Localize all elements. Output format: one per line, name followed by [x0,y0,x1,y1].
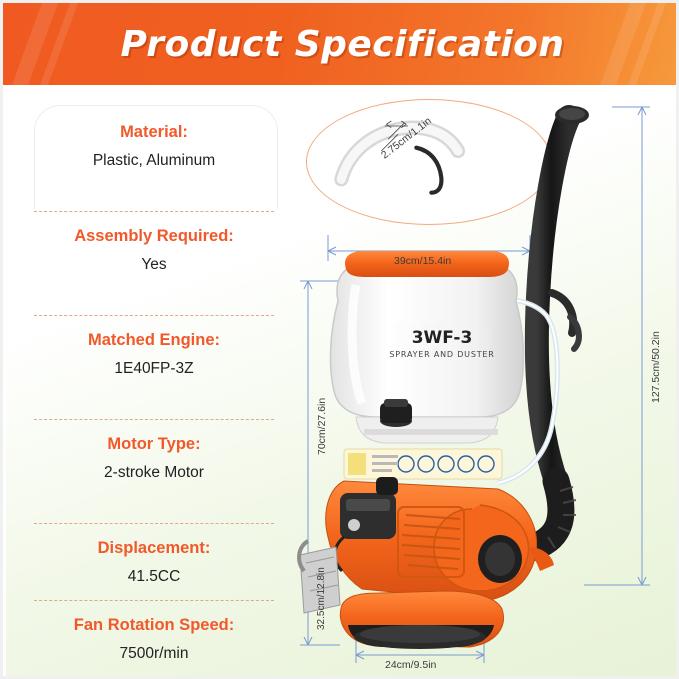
spec-separator [34,211,274,212]
spec-value: 41.5CC [28,566,280,588]
spec-item-fan-rotation-speed: Fan Rotation Speed: 7500r/min [28,614,280,665]
dimension-top-width: 39cm/15.4in [394,255,451,267]
spec-label: Matched Engine: [28,329,280,351]
spec-item-motor-type: Motor Type: 2-stroke Motor [28,433,280,484]
product-specification-page: Product Specification Material: Plastic,… [0,0,679,679]
product-drawing: 3WF-3 SPRAYER AND DUSTER [284,85,679,679]
spec-value: Yes [28,254,280,276]
body-area: Material: Plastic, Aluminum Assembly Req… [6,85,679,679]
spec-value: 2-stroke Motor [28,462,280,484]
spec-separator [34,600,274,601]
dimension-bottom-width: 24cm/9.5in [385,659,436,671]
product-illustration: 2.75cm/1.1in [284,85,679,679]
dimension-left-height: 70cm/27.6in [316,398,328,455]
dimension-right-height: 127.5cm/50.2in [650,331,662,403]
spec-label: Displacement: [28,537,280,559]
spec-separator [34,315,274,316]
spec-item-material: Material: Plastic, Aluminum [28,121,280,172]
page-title: Product Specification [3,3,679,85]
spec-item-assembly-required: Assembly Required: Yes [28,225,280,276]
spec-label: Material: [28,121,280,143]
spec-item-displacement: Displacement: 41.5CC [28,537,280,588]
spec-separator [34,419,274,420]
dimension-left-lower-height: 32.5cm/12.8in [316,567,327,630]
spec-label: Assembly Required: [28,225,280,247]
spec-value: 1E40FP-3Z [28,358,280,380]
spec-item-matched-engine: Matched Engine: 1E40FP-3Z [28,329,280,380]
spec-value: 7500r/min [28,643,280,665]
spec-list: Material: Plastic, Aluminum Assembly Req… [28,103,280,659]
spec-label: Fan Rotation Speed: [28,614,280,636]
brand-model-text: 3WF-3 [412,328,473,348]
brand-sub-text: SPRAYER AND DUSTER [389,350,494,359]
header-banner: Product Specification [3,3,679,85]
spec-label: Motor Type: [28,433,280,455]
spec-value: Plastic, Aluminum [28,150,280,172]
spec-separator [34,523,274,524]
